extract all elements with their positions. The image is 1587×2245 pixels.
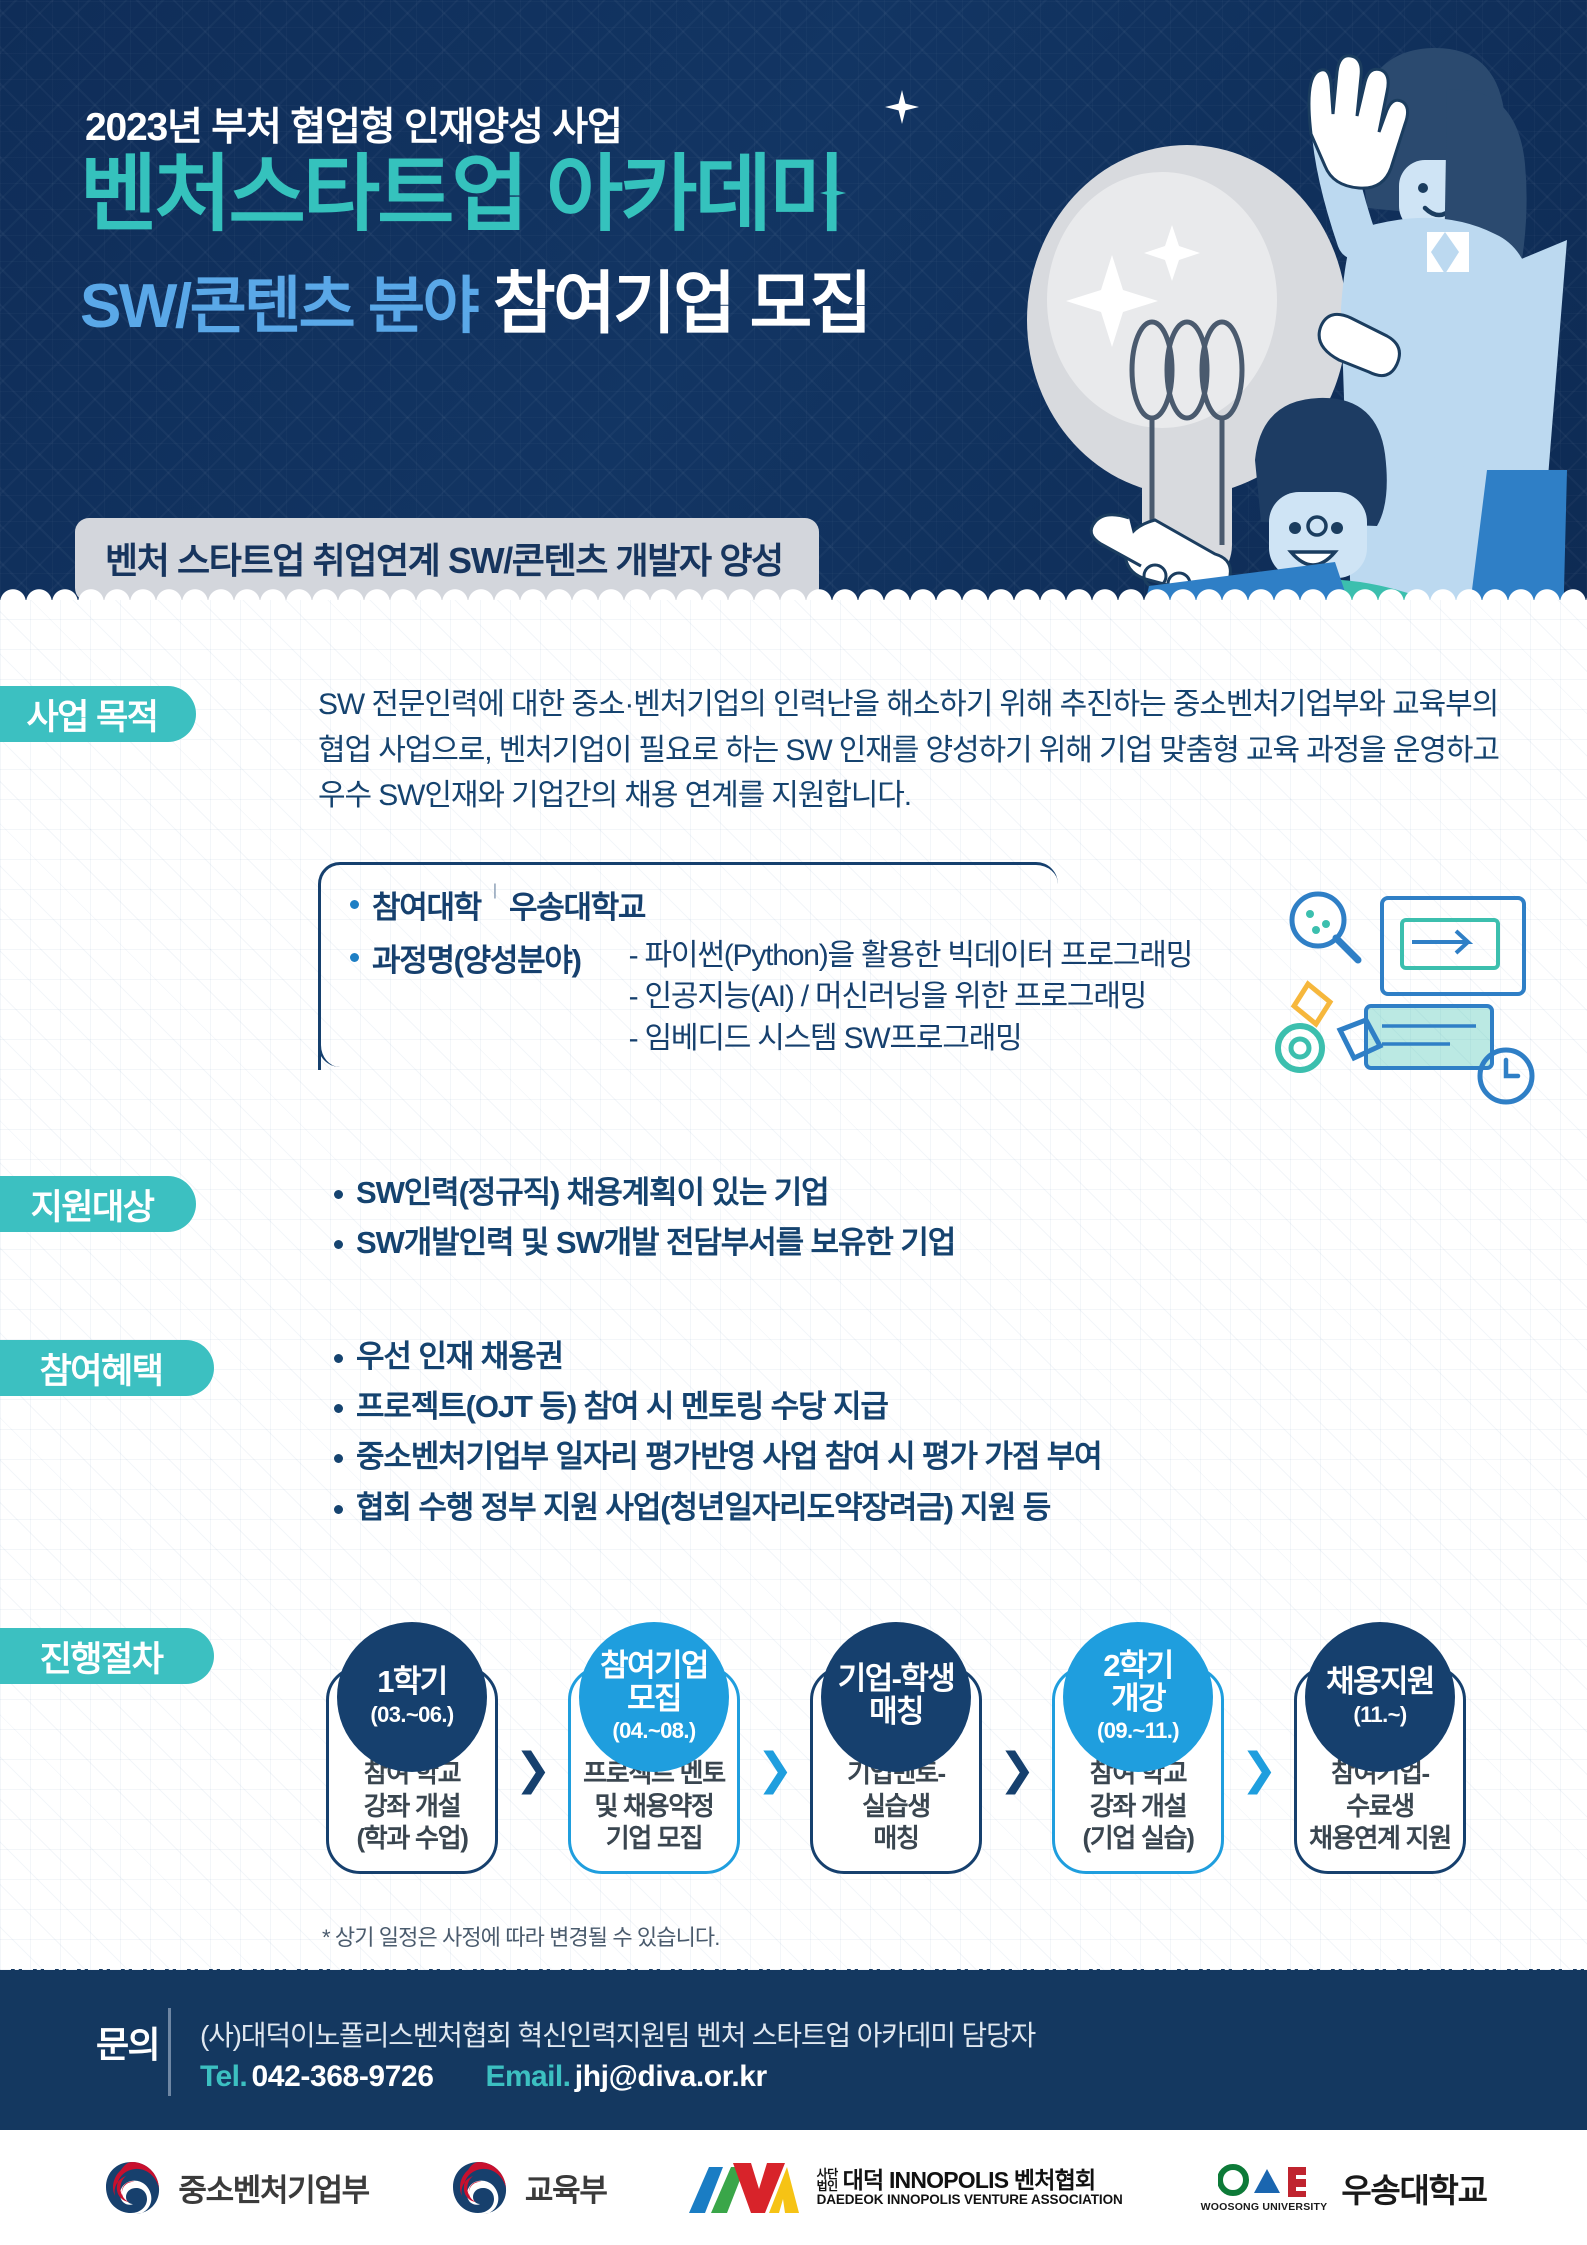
korea-gov-taegeuk-icon	[100, 2156, 164, 2220]
logo-woosong: WOOSONG UNIVERSITY 우송대학교	[1201, 2163, 1487, 2213]
benefits-list: 우선 인재 채용권 프로젝트(OJT 등) 참여 시 멘토링 수당 지급 중소벤…	[330, 1332, 1500, 1533]
list-item: 협회 수행 정부 지원 사업(청년일자리도약장려금) 지원 등	[330, 1483, 1500, 1533]
course-university-label: 참여대학	[372, 882, 481, 927]
poster-footer: 문의 (사)대덕이노폴리스벤처협회 혁신인력지원팀 벤처 스타트업 아카데미 담…	[0, 1970, 1587, 2130]
course-illustration	[1270, 880, 1540, 1110]
logo-bar: 중소벤처기업부 교육부 사단법인 대덕 INNOPOLIS 벤처협회 DA	[0, 2130, 1587, 2245]
woosong-mark-icon	[1218, 2163, 1310, 2197]
course-item: - 파이썬(Python)을 활용한 빅데이터 프로그래밍	[629, 935, 1193, 976]
process-step-5-title: 채용지원	[1326, 1666, 1434, 1699]
process-step-2-date: (04.~08.)	[612, 1718, 695, 1744]
footer-tel-label: Tel.	[200, 2060, 247, 2093]
desc-line: 실습생	[847, 1790, 945, 1823]
process-arrow-icon: ❯	[506, 1666, 560, 1874]
process-arrow-icon: ❯	[748, 1666, 802, 1874]
process-step-2: 참여기업 모집 (04.~08.) 프로젝트 멘토 및 채용약정 기업 모집	[560, 1622, 748, 1874]
header-title-line1: 벤처스타트업 아카데미	[80, 152, 843, 236]
header-eyebrow: 2023년 부처 협업형 인재양성 사업	[85, 96, 622, 152]
desc-line: (학과 수업)	[356, 1822, 467, 1855]
footer-organization: (사)대덕이노폴리스벤처협회 혁신인력지원팀 벤처 스타트업 아카데미 담당자	[200, 2014, 1035, 2054]
hero-illustration	[887, 0, 1587, 600]
course-item: - 인공지능(AI) / 머신러닝을 위한 프로그래밍	[629, 976, 1193, 1017]
process-step-4-date: (09.~11.)	[1097, 1718, 1179, 1744]
list-item: SW개발인력 및 SW개발 전담부서를 보유한 기업	[330, 1218, 1480, 1268]
process-step-2-title: 참여기업 모집	[600, 1650, 708, 1716]
logo-woosong-en: WOOSONG UNIVERSITY	[1201, 2202, 1328, 2213]
footer-contact-details: Tel. 042-368-9726 Email. jhj@diva.or.kr	[200, 2060, 767, 2094]
list-item: 프로젝트(OJT 등) 참여 시 멘토링 수당 지급	[330, 1382, 1500, 1432]
korea-gov-taegeuk-icon	[447, 2156, 511, 2220]
desc-line: 매칭	[847, 1822, 945, 1855]
target-list: SW인력(정규직) 채용계획이 있는 기업 SW개발인력 및 SW개발 전담부서…	[330, 1168, 1480, 1268]
process-flow: 1학기 (03.~06.) 참여 학교 강좌 개설 (학과 수업) ❯ 참여기업…	[318, 1622, 1474, 1874]
desc-line: 강좌 개설	[356, 1790, 467, 1823]
footer-divider	[168, 2008, 171, 2096]
course-name-row: 과정명(양성분야) - 파이썬(Python)을 활용한 빅데이터 프로그래밍 …	[350, 935, 1110, 1059]
process-step-1: 1학기 (03.~06.) 참여 학교 강좌 개설 (학과 수업)	[318, 1622, 506, 1874]
course-university-value: 우송대학교	[509, 882, 645, 927]
process-step-1-date: (03.~06.)	[370, 1702, 453, 1728]
header-title-line2: SW/콘텐츠 분야 참여기업 모집	[80, 248, 870, 347]
section-pill-process: 진행절차	[0, 1628, 214, 1684]
process-step-2-badge: 참여기업 모집 (04.~08.)	[579, 1622, 729, 1772]
footer-email-label: Email.	[486, 2060, 571, 2093]
desc-line: 기업 모집	[583, 1822, 725, 1855]
process-step-4: 2학기 개강 (09.~11.) 참여 학교 강좌 개설 (기업 실습)	[1044, 1622, 1232, 1874]
process-step-4-title: 2학기 개강	[1103, 1650, 1172, 1716]
process-step-5-date: (11.~)	[1353, 1702, 1406, 1728]
desc-line: (기업 실습)	[1082, 1822, 1193, 1855]
bullet-dot-icon	[350, 953, 359, 962]
desc-line: 수료생	[1309, 1790, 1451, 1823]
process-step-4-badge: 2학기 개강 (09.~11.)	[1063, 1622, 1213, 1772]
header-title-recruit: 참여기업 모집	[493, 248, 870, 347]
process-step-3-badge: 기업-학생 매칭	[821, 1622, 971, 1772]
process-arrow-icon: ❯	[1232, 1666, 1286, 1874]
footer-email-value[interactable]: jhj@diva.or.kr	[575, 2060, 767, 2093]
process-step-3: 기업-학생 매칭 기업멘토- 실습생 매칭	[802, 1622, 990, 1874]
course-item: - 임베디드 시스템 SW프로그래밍	[629, 1018, 1193, 1059]
diva-mark-icon	[685, 2159, 803, 2217]
desc-line: 및 채용약정	[583, 1790, 725, 1823]
process-note: * 상기 일정은 사정에 따라 변경될 수 있습니다.	[322, 1920, 719, 1952]
logo-diva-kr: 사단법인 대덕 INNOPOLIS 벤처협회	[817, 2168, 1123, 2193]
section-pill-target: 지원대상	[0, 1176, 196, 1232]
course-box-content: 참여대학 | 우송대학교 과정명(양성분야) - 파이썬(Python)을 활용…	[350, 882, 1110, 1067]
process-arrow-icon: ❯	[990, 1666, 1044, 1874]
logo-moe: 교육부	[447, 2156, 607, 2220]
logo-diva-text: 사단법인 대덕 INNOPOLIS 벤처협회 DAEDEOK INNOPOLIS…	[817, 2168, 1123, 2207]
purpose-paragraph: SW 전문인력에 대한 중소·벤처기업의 인력난을 해소하기 위해 추진하는 중…	[318, 682, 1528, 819]
logo-mss: 중소벤처기업부	[100, 2156, 369, 2220]
process-step-1-title: 1학기	[377, 1666, 446, 1699]
process-step-3-title: 기업-학생 매칭	[838, 1663, 954, 1729]
poster-header: 2023년 부처 협업형 인재양성 사업 벤처스타트업 아카데미 SW/콘텐츠 …	[0, 0, 1587, 600]
footer-zigzag-divider	[0, 1969, 1587, 1985]
logo-diva-en: DAEDEOK INNOPOLIS VENTURE ASSOCIATION	[817, 2193, 1123, 2207]
section-pill-purpose: 사업 목적	[0, 686, 196, 742]
course-separator: |	[493, 882, 497, 900]
header-wave-divider	[0, 576, 1587, 600]
process-step-5-badge: 채용지원 (11.~)	[1305, 1622, 1455, 1772]
logo-woosong-label: 우송대학교	[1341, 2164, 1486, 2212]
section-pill-benefits: 참여혜택	[0, 1340, 214, 1396]
footer-contact-label: 문의	[96, 2016, 159, 2068]
footer-tel-value[interactable]: 042-368-9726	[252, 2060, 434, 2093]
poster-root: 2023년 부처 협업형 인재양성 사업 벤처스타트업 아카데미 SW/콘텐츠 …	[0, 0, 1587, 2245]
course-university-row: 참여대학 | 우송대학교	[350, 882, 1110, 927]
list-item: SW인력(정규직) 채용계획이 있는 기업	[330, 1168, 1480, 1218]
logo-moe-label: 교육부	[525, 2165, 607, 2210]
logo-diva-name: 대덕 INNOPOLIS 벤처협회	[843, 2168, 1096, 2192]
logo-diva-prefix: 사단법인	[817, 2168, 838, 2193]
list-item: 중소벤처기업부 일자리 평가반영 사업 참여 시 평가 가점 부여	[330, 1432, 1500, 1482]
bullet-dot-icon	[350, 900, 359, 909]
process-step-5: 채용지원 (11.~) 참여기업- 수료생 채용연계 지원	[1286, 1622, 1474, 1874]
desc-line: 강좌 개설	[1082, 1790, 1193, 1823]
header-title-sw: SW/콘텐츠 분야	[80, 255, 477, 345]
desc-line: 채용연계 지원	[1309, 1822, 1451, 1855]
list-item: 우선 인재 채용권	[330, 1332, 1500, 1382]
course-name-label: 과정명(양성분야)	[372, 935, 581, 980]
process-step-1-badge: 1학기 (03.~06.)	[337, 1622, 487, 1772]
logo-mss-label: 중소벤처기업부	[178, 2165, 369, 2210]
logo-diva: 사단법인 대덕 INNOPOLIS 벤처협회 DAEDEOK INNOPOLIS…	[685, 2159, 1123, 2217]
logo-woosong-mark: WOOSONG UNIVERSITY	[1201, 2163, 1328, 2213]
course-name-list: - 파이썬(Python)을 활용한 빅데이터 프로그래밍 - 인공지능(AI)…	[629, 935, 1193, 1059]
